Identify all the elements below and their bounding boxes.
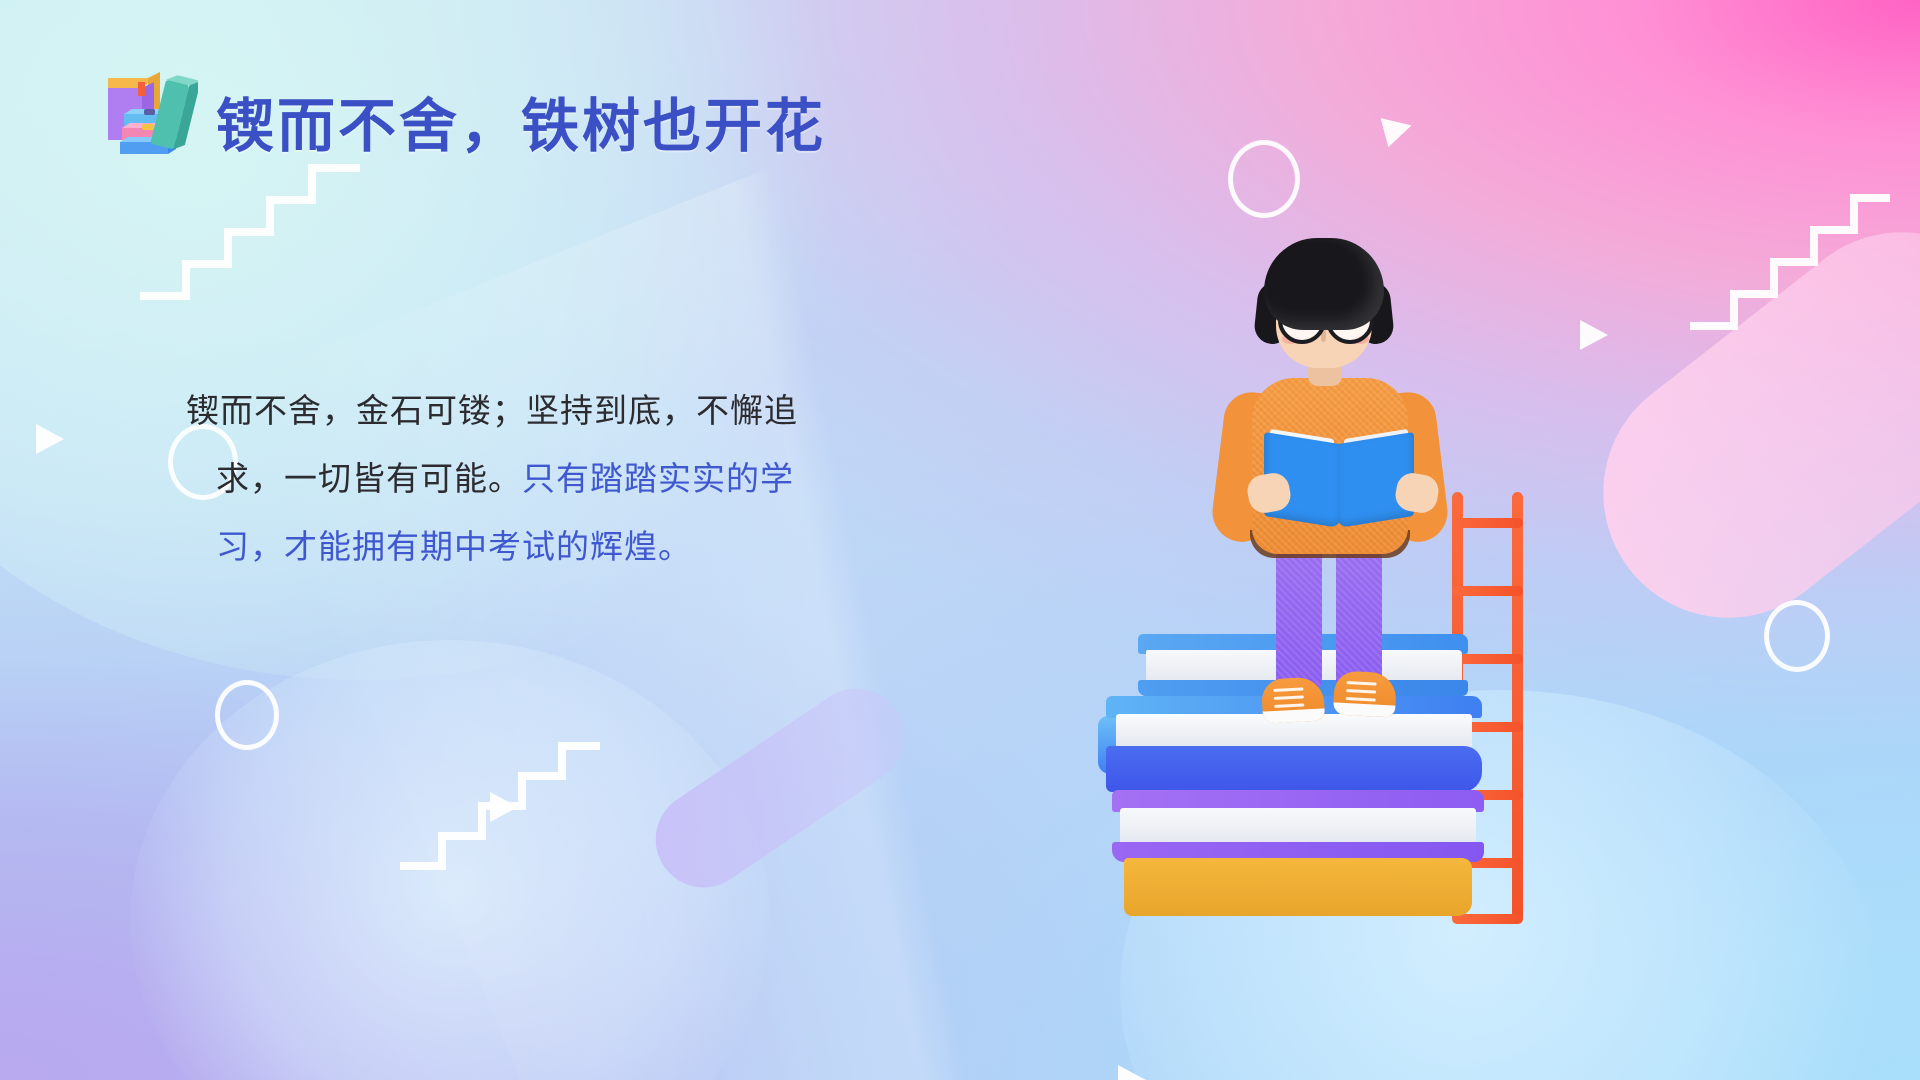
- body-line-1-plain: 锲而不舍，金石可镂；坚持到底，不懈追: [186, 394, 798, 430]
- slide-canvas: 锲而不舍，铁树也开花 锲而不舍，金石可镂；坚持到底，不懈追 求，一切皆有可能。只…: [0, 0, 1920, 1080]
- ring-outline-lower-right: [1764, 600, 1830, 672]
- body-paragraph: 锲而不舍，金石可镂；坚持到底，不懈追 求，一切皆有可能。只有踏踏实实的学 习，才…: [186, 378, 818, 582]
- ring-outline-lower-left: [215, 680, 279, 750]
- book-stack-icon: [86, 62, 198, 158]
- zigzag-stairs-upper-left: [140, 160, 360, 300]
- student-reading-illustration: [1020, 230, 1640, 930]
- triangle-lower-left-b: [490, 792, 518, 822]
- leg-left: [1276, 540, 1322, 692]
- zigzag-stairs-lower-left: [400, 730, 600, 870]
- triangle-bottom: [1118, 1065, 1146, 1080]
- zigzag-stairs-upper-right: [1690, 180, 1890, 330]
- triangle-upper-right: [1381, 111, 1416, 147]
- book-2-base: [1106, 746, 1482, 792]
- body-line-2-plain: 求，一切皆有可能。: [216, 462, 522, 498]
- body-line-2: 求，一切皆有可能。只有踏踏实实的学: [186, 446, 818, 514]
- triangle-mid-left: [36, 424, 64, 454]
- body-line-1: 锲而不舍，金石可镂；坚持到底，不懈追: [186, 378, 818, 446]
- capsule-blob-bottom: [637, 670, 923, 906]
- hair-top: [1264, 238, 1384, 330]
- leg-right: [1336, 540, 1382, 692]
- page-title: 锲而不舍，铁树也开花: [216, 97, 826, 158]
- body-line-3-highlight: 习，才能拥有期中考试的辉煌。: [216, 530, 692, 566]
- body-line-2-highlight: 只有踏踏实实的学: [522, 462, 794, 498]
- title-row: 锲而不舍，铁树也开花: [86, 62, 826, 158]
- shoe-left: [1261, 676, 1325, 723]
- body-line-3: 习，才能拥有期中考试的辉煌。: [186, 514, 818, 582]
- background-blob-bottom-center: [130, 640, 770, 1080]
- book-4-cover: [1124, 858, 1472, 916]
- ring-outline-upper-right: [1228, 140, 1300, 218]
